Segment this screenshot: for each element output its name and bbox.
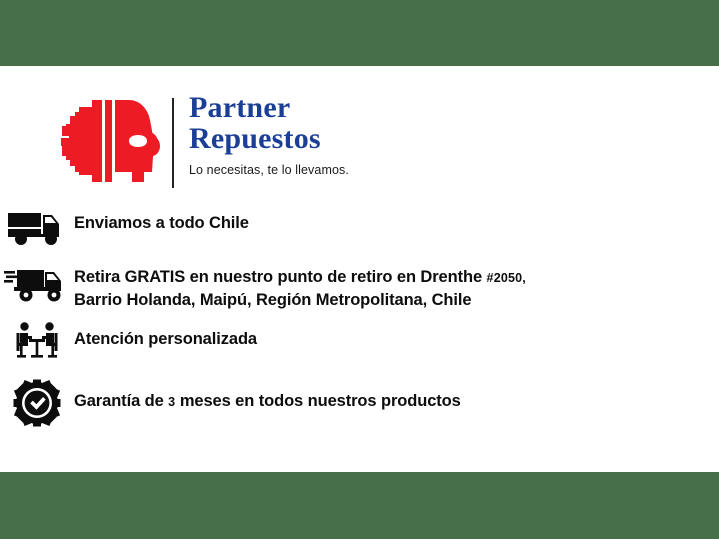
feature-address-number: #2050, [487,271,526,285]
people-at-table-icon [0,318,74,366]
brand-line-2: Repuestos [189,123,619,154]
brand-text: Partner Repuestos Lo necesitas, te lo ll… [189,92,619,177]
feature-label: Atención personalizada [74,330,257,348]
feature-label-line2: Barrio Holanda, Maipú, Región Metropolit… [74,291,471,309]
check-badge-icon [0,378,74,428]
feature-label: Retira GRATIS en nuestro punto de retiro… [74,268,482,286]
vertical-divider [172,98,174,188]
brand-tagline: Lo necesitas, te lo llevamos. [189,163,619,177]
feature-list: Enviamos a todo Chile [0,206,719,436]
feature-label: Garantía de [74,392,164,410]
warranty-months: 3 [168,395,175,409]
feature-label: Enviamos a todo Chile [74,214,249,232]
gear-car-icon [58,96,170,186]
fast-delivery-truck-icon [0,260,74,306]
feature-label-trail: meses en todos nuestros productos [180,392,461,410]
list-item: Enviamos a todo Chile [0,206,719,260]
feature-text: Enviamos a todo Chile [74,206,719,234]
brand-line-1: Partner [189,92,619,123]
list-item: Retira GRATIS en nuestro punto de retiro… [0,260,719,318]
promo-banner: Partner Repuestos Lo necesitas, te lo ll… [0,0,719,539]
list-item: Atención personalizada [0,318,719,378]
feature-text: Retira GRATIS en nuestro punto de retiro… [74,260,719,311]
feature-text: Atención personalizada [74,318,719,350]
logo-block: Partner Repuestos Lo necesitas, te lo ll… [0,88,719,196]
feature-text: Garantía de 3 meses en todos nuestros pr… [74,378,719,413]
bottom-green-band [0,472,719,539]
delivery-truck-icon [0,206,74,250]
top-green-band [0,0,719,66]
list-item: Garantía de 3 meses en todos nuestros pr… [0,378,719,436]
